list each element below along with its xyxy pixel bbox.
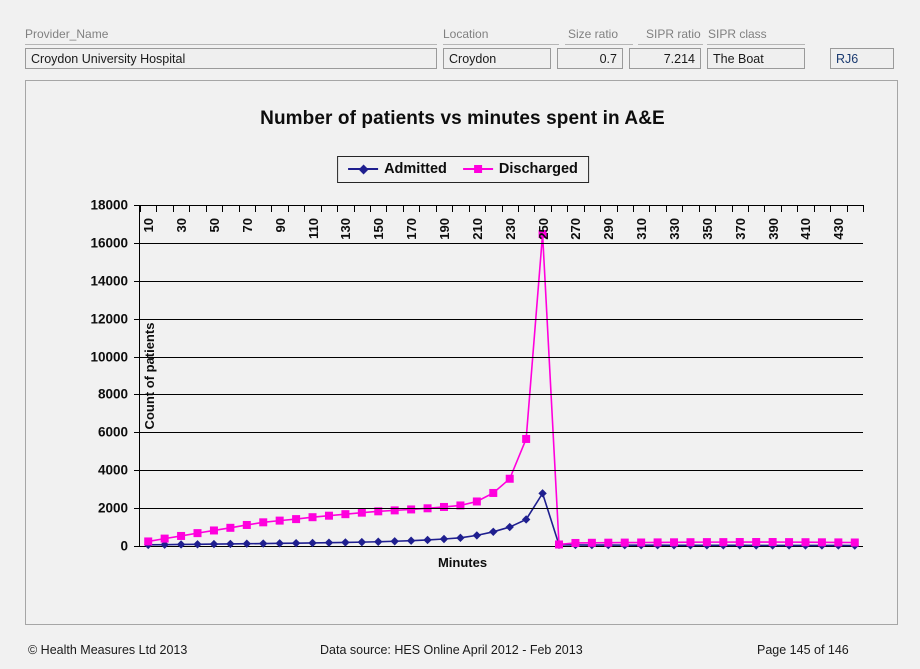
data-point-discharged: [769, 538, 777, 546]
y-axis-title: Count of patients: [142, 322, 157, 429]
y-gridline: [140, 357, 863, 358]
data-point-admitted: [144, 541, 152, 549]
x-tick-mark: [140, 205, 141, 212]
data-point-discharged: [703, 538, 711, 546]
x-tick-mark: [847, 205, 848, 212]
y-tick-label: 12000: [58, 311, 128, 326]
x-tick-label: 250: [536, 218, 551, 240]
data-point-discharged: [670, 538, 678, 546]
y-tick-mark: [134, 281, 140, 282]
y-tick-label: 16000: [58, 235, 128, 250]
data-point-admitted: [818, 541, 826, 549]
x-tick-mark: [518, 205, 519, 212]
header-rule-provider: [25, 44, 437, 45]
data-point-admitted: [325, 538, 333, 546]
data-point-discharged: [654, 538, 662, 546]
sipr-ratio-field[interactable]: 7.214: [629, 48, 701, 69]
x-tick-mark: [814, 205, 815, 212]
x-tick-mark: [633, 205, 634, 212]
y-tick-label: 14000: [58, 273, 128, 288]
x-tick-mark: [715, 205, 716, 212]
data-point-discharged: [555, 540, 563, 548]
x-tick-label: 350: [700, 218, 715, 240]
data-point-discharged: [621, 539, 629, 547]
data-point-admitted: [686, 541, 694, 549]
location-field[interactable]: Croydon: [443, 48, 551, 69]
header-label-sipr-ratio: SIPR ratio: [646, 27, 701, 41]
series-line-admitted: [148, 493, 855, 545]
header-label-size-ratio: Size ratio: [568, 27, 618, 41]
x-tick-label: 390: [766, 218, 781, 240]
y-tick-mark: [134, 357, 140, 358]
x-tick-mark: [304, 205, 305, 212]
chart-legend: AdmittedDischarged: [337, 156, 589, 183]
data-point-admitted: [259, 539, 267, 547]
x-tick-mark: [764, 205, 765, 212]
data-point-admitted: [210, 540, 218, 548]
header-label-location: Location: [443, 27, 488, 41]
series-lines: [140, 205, 863, 546]
legend-item-discharged: Discharged: [463, 161, 578, 177]
x-tick-mark: [649, 205, 650, 212]
x-tick-label: 130: [338, 218, 353, 240]
y-tick-mark: [134, 432, 140, 433]
legend-label: Discharged: [499, 161, 578, 177]
x-tick-label: 210: [470, 218, 485, 240]
data-point-admitted: [621, 541, 629, 549]
data-point-admitted: [768, 541, 776, 549]
data-point-discharged: [801, 538, 809, 546]
x-tick-label: 330: [667, 218, 682, 240]
header-label-sipr-class: SIPR class: [708, 27, 767, 41]
data-point-discharged: [358, 509, 366, 517]
data-point-discharged: [341, 510, 349, 518]
x-tick-mark: [222, 205, 223, 212]
legend-item-admitted: Admitted: [348, 161, 447, 177]
y-tick-label: 0: [58, 539, 128, 554]
page-footer: © Health Measures Ltd 2013 Data source: …: [0, 634, 920, 669]
legend-key-diamond-icon: [348, 163, 378, 175]
x-tick-mark: [403, 205, 404, 212]
x-tick-mark: [781, 205, 782, 212]
data-point-discharged: [292, 515, 300, 523]
data-point-discharged: [785, 538, 793, 546]
y-tick-label: 4000: [58, 463, 128, 478]
data-point-discharged: [637, 539, 645, 547]
x-tick-mark: [863, 205, 864, 212]
data-point-admitted: [785, 541, 793, 549]
data-point-admitted: [341, 538, 349, 546]
data-point-admitted: [604, 541, 612, 549]
data-point-discharged: [210, 526, 218, 534]
data-point-admitted: [588, 541, 596, 549]
data-point-discharged: [243, 521, 251, 529]
data-point-discharged: [719, 538, 727, 546]
data-point-discharged: [686, 538, 694, 546]
data-point-admitted: [308, 539, 316, 547]
x-tick-label: 290: [601, 218, 616, 240]
x-tick-mark: [419, 205, 420, 212]
y-tick-mark: [134, 508, 140, 509]
x-tick-mark: [354, 205, 355, 212]
data-point-discharged: [473, 497, 481, 505]
y-gridline: [140, 508, 863, 509]
y-gridline: [140, 470, 863, 471]
data-point-admitted: [538, 489, 546, 497]
x-tick-mark: [370, 205, 371, 212]
data-point-admitted: [752, 541, 760, 549]
data-point-admitted: [703, 541, 711, 549]
y-gridline: [140, 243, 863, 244]
y-tick-label: 2000: [58, 501, 128, 516]
y-gridline: [140, 394, 863, 395]
x-tick-mark: [239, 205, 240, 212]
x-tick-mark: [534, 205, 535, 212]
data-point-discharged: [851, 539, 859, 547]
x-tick-mark: [502, 205, 503, 212]
legend-key-square-icon: [463, 163, 493, 175]
data-point-admitted: [851, 541, 859, 549]
y-tick-mark: [134, 394, 140, 395]
x-tick-mark: [617, 205, 618, 212]
data-point-admitted: [275, 539, 283, 547]
data-point-discharged: [818, 538, 826, 546]
x-tick-mark: [271, 205, 272, 212]
x-tick-mark: [682, 205, 683, 212]
x-tick-mark: [436, 205, 437, 212]
data-point-discharged: [604, 539, 612, 547]
x-tick-mark: [732, 205, 733, 212]
header-rule-sipr-ratio: [638, 44, 703, 45]
y-gridline: [140, 432, 863, 433]
x-tick-mark: [748, 205, 749, 212]
x-tick-mark: [797, 205, 798, 212]
x-tick-label: 370: [733, 218, 748, 240]
y-tick-mark: [134, 243, 140, 244]
data-point-discharged: [407, 505, 415, 513]
header-rule-sipr-class: [707, 44, 805, 45]
header-label-provider: Provider_Name: [25, 27, 108, 41]
x-tick-mark: [485, 205, 486, 212]
x-tick-label: 190: [437, 218, 452, 240]
data-point-discharged: [440, 503, 448, 511]
data-point-admitted: [719, 541, 727, 549]
provider-name-field[interactable]: Croydon University Hospital: [25, 48, 437, 69]
data-point-admitted: [390, 537, 398, 545]
data-point-discharged: [259, 518, 267, 526]
x-tick-mark: [469, 205, 470, 212]
header-rule-size-ratio: [565, 44, 633, 45]
data-point-admitted: [834, 541, 842, 549]
x-tick-mark: [699, 205, 700, 212]
header-rule-location: [443, 44, 559, 45]
data-point-discharged: [309, 513, 317, 521]
x-tick-mark: [255, 205, 256, 212]
data-point-admitted: [489, 528, 497, 536]
data-point-discharged: [325, 512, 333, 520]
x-tick-mark: [321, 205, 322, 212]
data-point-admitted: [801, 541, 809, 549]
data-point-discharged: [506, 475, 514, 483]
data-point-discharged: [177, 532, 185, 540]
x-tick-mark: [386, 205, 387, 212]
data-point-discharged: [276, 517, 284, 525]
legend-label: Admitted: [384, 161, 447, 177]
x-tick-label: 90: [273, 218, 288, 232]
data-point-admitted: [736, 541, 744, 549]
record-header: Provider_Name Location Size ratio SIPR r…: [0, 0, 920, 78]
data-point-admitted: [423, 536, 431, 544]
data-point-discharged: [489, 489, 497, 497]
data-point-admitted: [456, 534, 464, 542]
x-tick-label: 230: [503, 218, 518, 240]
data-point-discharged: [226, 524, 234, 532]
x-tick-label: 30: [174, 218, 189, 232]
data-point-admitted: [193, 540, 201, 548]
x-tick-mark: [600, 205, 601, 212]
x-tick-mark: [189, 205, 190, 212]
footer-page-number: Page 145 of 146: [757, 643, 849, 657]
data-point-admitted: [177, 540, 185, 548]
x-tick-mark: [666, 205, 667, 212]
provider-code-field[interactable]: RJ6: [830, 48, 894, 69]
size-ratio-field[interactable]: 0.7: [557, 48, 623, 69]
x-tick-mark: [584, 205, 585, 212]
footer-copyright: © Health Measures Ltd 2013: [28, 643, 187, 657]
y-tick-label: 18000: [58, 198, 128, 213]
data-point-admitted: [160, 540, 168, 548]
x-tick-label: 410: [798, 218, 813, 240]
x-tick-label: 10: [141, 218, 156, 232]
data-point-admitted: [292, 539, 300, 547]
x-tick-mark: [567, 205, 568, 212]
sipr-class-field[interactable]: The Boat: [707, 48, 805, 69]
x-tick-label: 70: [240, 218, 255, 232]
data-point-admitted: [358, 538, 366, 546]
x-tick-label: 110: [306, 218, 321, 239]
x-tick-label: 170: [404, 218, 419, 240]
x-tick-label: 310: [634, 218, 649, 240]
data-point-discharged: [588, 539, 596, 547]
data-point-discharged: [752, 538, 760, 546]
x-tick-label: 150: [371, 218, 386, 240]
y-tick-mark: [134, 546, 140, 547]
x-tick-label: 270: [568, 218, 583, 240]
x-tick-label: 50: [207, 218, 222, 232]
data-point-admitted: [226, 540, 234, 548]
x-tick-mark: [551, 205, 552, 212]
data-point-admitted: [407, 536, 415, 544]
data-point-admitted: [440, 535, 448, 543]
data-point-admitted: [473, 531, 481, 539]
x-tick-mark: [156, 205, 157, 212]
data-point-admitted: [506, 523, 514, 531]
x-tick-mark: [173, 205, 174, 212]
data-point-discharged: [522, 435, 530, 443]
chart-title: Number of patients vs minutes spent in A…: [26, 108, 899, 130]
data-point-admitted: [571, 541, 579, 549]
plot-area: Count of patients 0200040006000800010000…: [139, 205, 863, 547]
data-point-discharged: [161, 535, 169, 543]
y-gridline: [140, 319, 863, 320]
chart-panel: Number of patients vs minutes spent in A…: [25, 80, 898, 625]
data-point-admitted: [637, 541, 645, 549]
x-axis-title: Minutes: [26, 555, 899, 570]
x-tick-mark: [337, 205, 338, 212]
y-tick-label: 8000: [58, 387, 128, 402]
data-point-admitted: [243, 540, 251, 548]
data-point-discharged: [194, 529, 202, 537]
x-tick-mark: [288, 205, 289, 212]
x-tick-label: 430: [831, 218, 846, 240]
footer-data-source: Data source: HES Online April 2012 - Feb…: [320, 643, 583, 657]
data-point-admitted: [555, 541, 563, 549]
x-tick-mark: [206, 205, 207, 212]
data-point-discharged: [834, 538, 842, 546]
y-tick-mark: [134, 470, 140, 471]
data-point-admitted: [374, 538, 382, 546]
y-tick-label: 6000: [58, 425, 128, 440]
data-point-discharged: [736, 538, 744, 546]
data-point-discharged: [571, 539, 579, 547]
data-point-admitted: [522, 515, 530, 523]
x-tick-mark: [830, 205, 831, 212]
y-gridline: [140, 281, 863, 282]
x-tick-mark: [452, 205, 453, 212]
data-point-admitted: [653, 541, 661, 549]
y-tick-label: 10000: [58, 349, 128, 364]
data-point-admitted: [670, 541, 678, 549]
data-point-discharged: [144, 537, 152, 545]
y-tick-mark: [134, 319, 140, 320]
